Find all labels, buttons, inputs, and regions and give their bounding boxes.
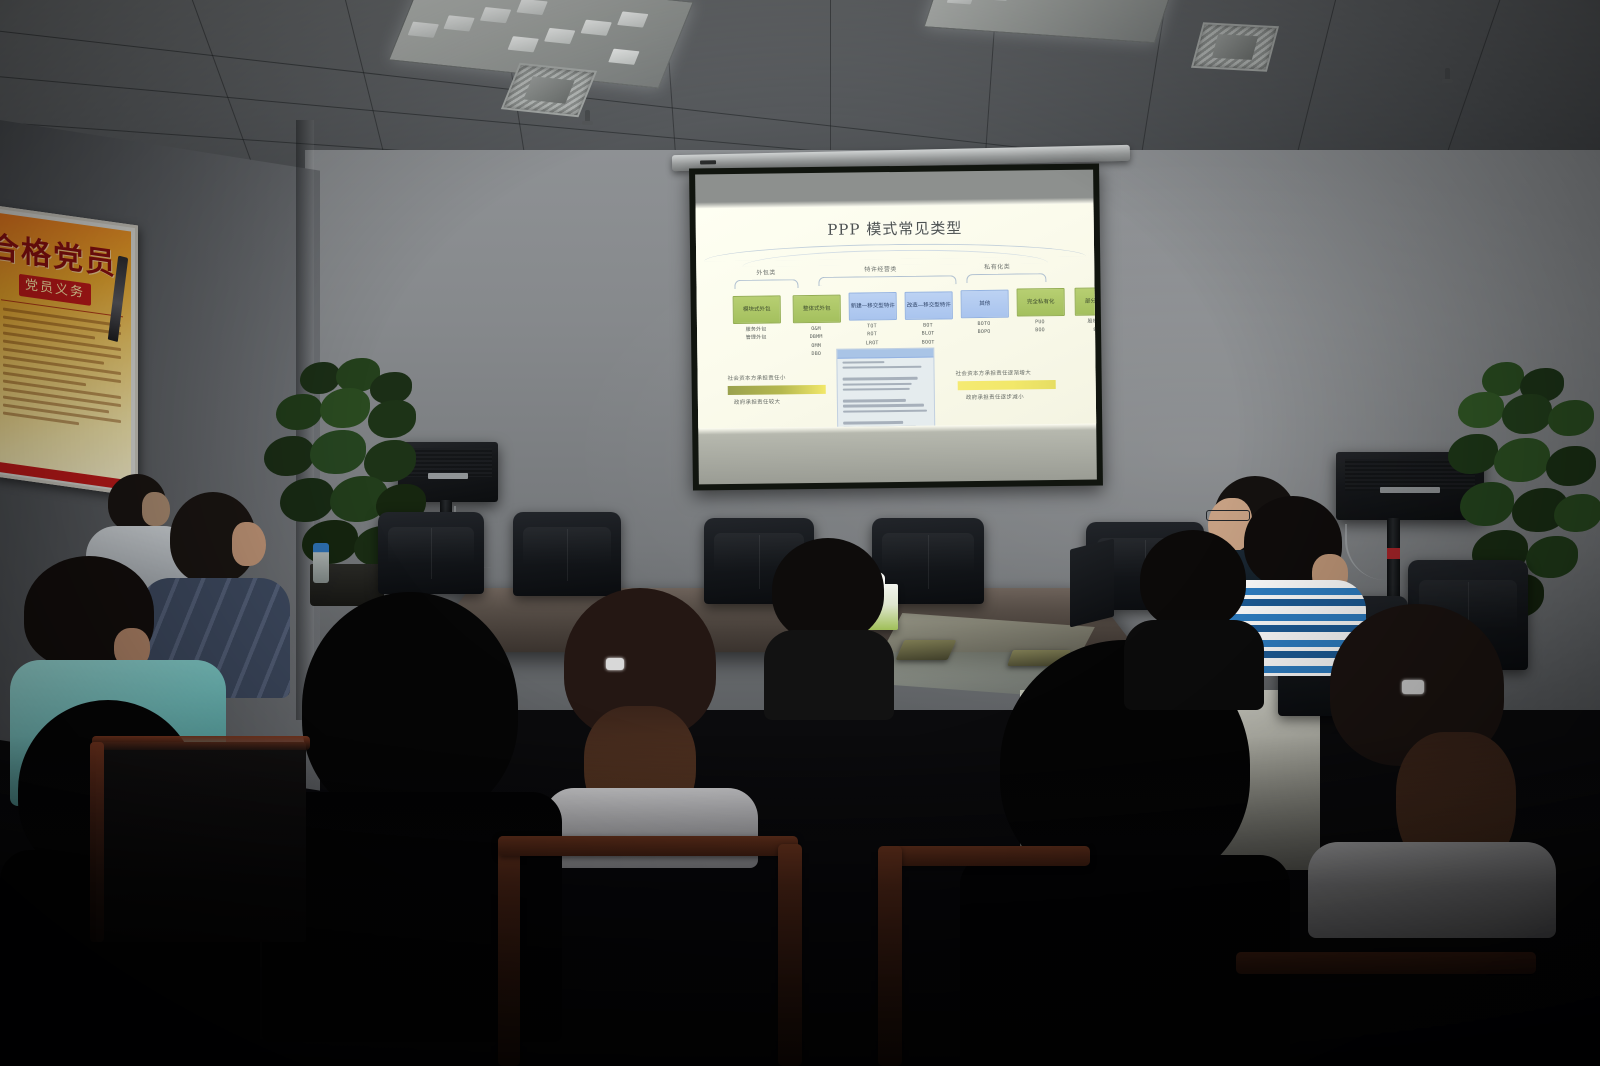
person-woman-ponytail-white — [1308, 604, 1556, 934]
sprinkler-head-right — [1445, 68, 1450, 80]
sprinkler-head-left — [585, 110, 590, 122]
chair-back — [96, 742, 306, 942]
speaker-indicator-right — [1387, 548, 1400, 559]
audience-chair-rail-2 — [498, 836, 798, 856]
group-label-concession: 特许经营类 — [864, 264, 897, 273]
audience-chair-frame-3 — [778, 844, 802, 1066]
node-box-0: 模块式外包 — [733, 296, 781, 325]
head — [772, 538, 884, 642]
person-woman-white-blouse — [540, 588, 760, 858]
screen-housing-slot — [700, 160, 716, 164]
hair-clip — [606, 658, 624, 670]
node-items-3: BOTBLOTBOOT — [902, 321, 954, 346]
water-bottle — [313, 543, 329, 583]
head — [302, 592, 518, 822]
speaker-logo-right — [1380, 487, 1439, 493]
audience-chair-frame-4 — [878, 846, 902, 1066]
air-vent-left — [501, 63, 597, 117]
executive-chair-2 — [513, 512, 621, 596]
node-items-1: O&MDBMMOMMDBO — [790, 325, 842, 359]
torso — [764, 630, 894, 720]
presentation-slide: PPP 模式常见类型 外包类 特许经营类 私有化类 模块式外包 整体式外包 新建… — [696, 204, 1097, 429]
audience-chair-frame-2 — [498, 836, 520, 1066]
group-label-privatization: 私有化类 — [984, 262, 1010, 271]
notebook-on-table — [896, 640, 957, 660]
brace-privatization — [966, 273, 1046, 283]
ceiling-light-fixture-right — [923, 0, 1178, 43]
node-items-4: BOTOBOPO — [958, 320, 1010, 337]
node-items-5: PUOBOO — [1014, 318, 1066, 335]
screen-surface: PPP 模式常见类型 外包类 特许经营类 私有化类 模块式外包 整体式外包 新建… — [695, 170, 1097, 485]
node-box-5: 完全私有化 — [1017, 288, 1065, 317]
air-vent-right — [1191, 22, 1279, 71]
node-box-4: 其他 — [961, 290, 1009, 319]
group-label-outsourcing: 外包类 — [756, 268, 776, 277]
person-man-right-back — [1124, 530, 1264, 690]
executive-chair-1 — [378, 512, 484, 594]
head — [1140, 530, 1246, 630]
torso — [1124, 620, 1264, 710]
chair-rail — [92, 736, 310, 750]
person-man-center-short-hair — [764, 538, 894, 708]
slide-title: PPP 模式常见类型 — [696, 216, 1094, 242]
left-responsibility-bar — [728, 385, 826, 395]
node-items-6: 股权转让合资 — [1072, 317, 1096, 334]
audience-chair-frame-5 — [1236, 952, 1536, 974]
node-items-0: 服务外包管理外包 — [730, 325, 782, 342]
right-caption-bottom: 政府承担责任逐步减小 — [966, 393, 1024, 402]
torso — [544, 788, 758, 868]
brace-outsourcing — [734, 279, 798, 289]
audience-chair-1 — [96, 742, 306, 942]
node-box-1: 整体式外包 — [793, 295, 841, 324]
node-box-6: 部分私有化 — [1075, 287, 1097, 316]
brace-concession — [818, 275, 956, 286]
torso — [1308, 842, 1556, 938]
poster-body-text — [3, 308, 121, 437]
projection-screen: PPP 模式常见类型 外包类 特许经营类 私有化类 模块式外包 整体式外包 新建… — [689, 164, 1103, 491]
left-caption-top: 社会资本方承担责任小 — [728, 373, 786, 382]
right-caption-top: 社会资本方承担责任逐渐增大 — [956, 368, 1031, 377]
node-box-3: 改造—移交型特许 — [905, 291, 953, 320]
party-member-poster: 合格党员 党员义务 — [0, 205, 138, 497]
right-responsibility-bar — [958, 380, 1056, 390]
hair-clip — [1402, 680, 1424, 694]
node-box-2: 新建—移交型特许 — [849, 292, 897, 321]
chair-arm — [90, 742, 104, 942]
slide-detail-box — [836, 348, 935, 429]
left-caption-bottom: 政府承担责任较大 — [734, 398, 781, 407]
laptop-screen — [1070, 539, 1114, 628]
face — [232, 522, 266, 566]
node-items-2: TOTROTLROT — [846, 322, 898, 347]
audience-chair-rail-3 — [890, 846, 1090, 866]
detail-box-header — [837, 349, 933, 359]
conference-room-photo: 合格党员 党员义务 PPP 模式常见类型 外包类 特许经营类 私有化类 — [0, 0, 1600, 1066]
